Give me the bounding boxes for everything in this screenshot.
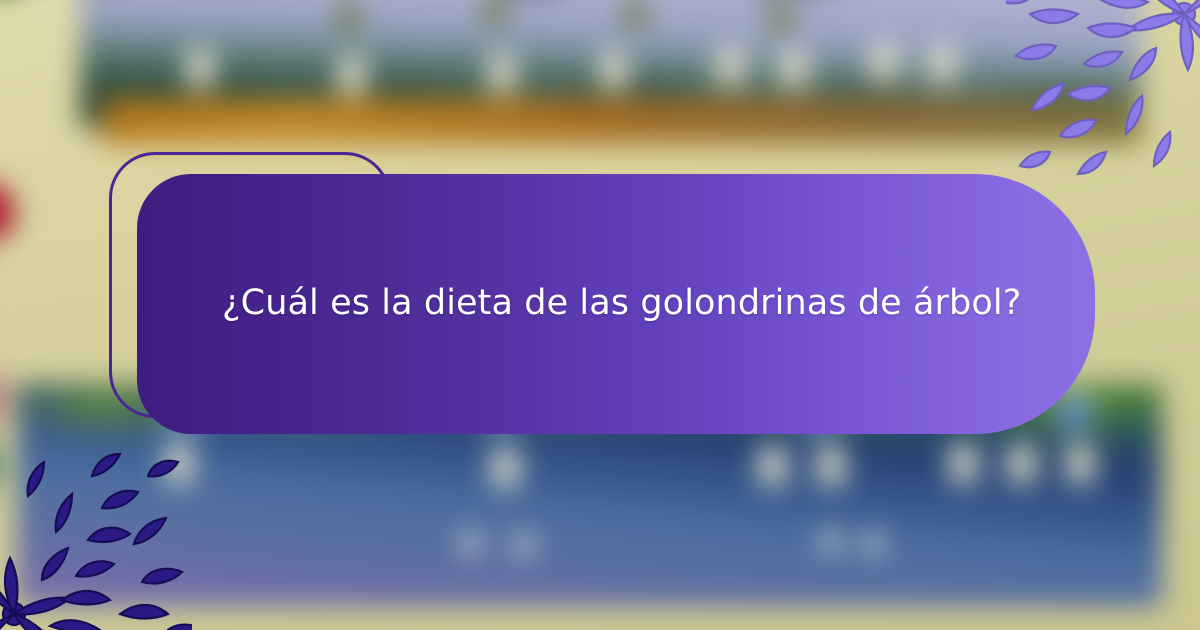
egg-token (515, 534, 532, 555)
card-holder-strip (102, 98, 1141, 145)
bird-card-token (929, 47, 957, 85)
egg-token (462, 532, 479, 553)
question-card[interactable]: ¿Cuál es la dieta de las golondrinas de … (137, 174, 1095, 434)
egg-token (865, 532, 882, 553)
habitat-icon (615, 0, 654, 33)
bird-card-token (1066, 445, 1094, 483)
bird-card-token (600, 53, 628, 91)
bird-card-token (489, 55, 517, 93)
screenshot-root: ¿Cuál es la dieta de las golondrinas de … (0, 0, 1200, 630)
habitat-icon (762, 0, 801, 38)
question-text: ¿Cuál es la dieta de las golondrinas de … (137, 282, 1091, 326)
bird-card-token (165, 445, 193, 483)
bird-card-token (870, 45, 898, 83)
egg-token (823, 530, 840, 551)
bird-card-token (338, 57, 366, 95)
bird-card-token (817, 448, 845, 486)
bird-card-token (492, 450, 520, 488)
bird-card-token (717, 49, 745, 87)
bird-card-token (780, 51, 808, 89)
bird-card-token (759, 448, 787, 486)
habitat-icon (476, 0, 515, 31)
bird-card-token (950, 445, 978, 483)
bird-card-token (1008, 445, 1036, 483)
bird-card-token (187, 51, 215, 89)
habitat-icon (329, 0, 368, 36)
